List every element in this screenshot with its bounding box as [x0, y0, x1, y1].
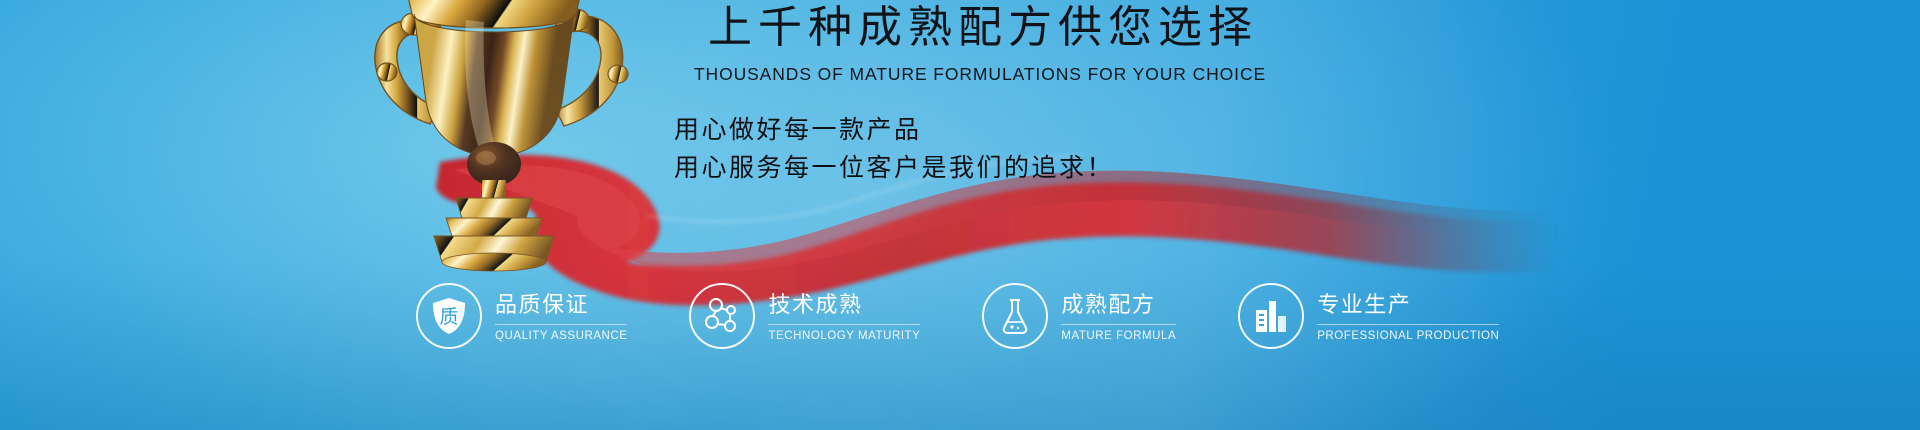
feature-quality-assurance[interactable]: 质 品质保证 QUALITY ASSURANCE	[416, 283, 627, 349]
banner-subtitle: THOUSANDS OF MATURE FORMULATIONS FOR YOU…	[660, 64, 1300, 85]
banner-copy: 上千种成熟配方供您选择 THOUSANDS OF MATURE FORMULAT…	[660, 4, 1300, 188]
feature-text: 品质保证 QUALITY ASSURANCE	[495, 290, 627, 341]
feature-title-en: TECHNOLOGY MATURITY	[768, 330, 920, 342]
factory-production-icon	[1238, 283, 1304, 349]
flask-formula-icon	[982, 283, 1048, 349]
feature-text: 成熟配方 MATURE FORMULA	[1061, 290, 1176, 341]
feature-title-en: MATURE FORMULA	[1061, 330, 1176, 342]
feature-text: 专业生产 PROFESSIONAL PRODUCTION	[1317, 290, 1499, 341]
feature-mature-formula[interactable]: 成熟配方 MATURE FORMULA	[982, 283, 1176, 349]
gold-trophy-icon	[330, 0, 660, 274]
feature-professional-production[interactable]: 专业生产 PROFESSIONAL PRODUCTION	[1238, 283, 1499, 349]
feature-title-cn: 成熟配方	[1061, 292, 1176, 324]
banner-headline: 上千种成熟配方供您选择	[660, 4, 1300, 52]
feature-badge-list: 质 品质保证 QUALITY ASSURANCE	[416, 283, 1499, 349]
feature-text: 技术成熟 TECHNOLOGY MATURITY	[768, 290, 920, 341]
feature-title-cn: 技术成熟	[768, 292, 920, 324]
feature-title-cn: 品质保证	[495, 292, 627, 324]
molecule-technology-icon	[689, 283, 755, 349]
feature-title-cn: 专业生产	[1317, 292, 1499, 324]
banner-taglines: 用心做好每一款产品 用心服务每一位客户是我们的追求！	[660, 111, 1300, 189]
feature-title-en: PROFESSIONAL PRODUCTION	[1317, 330, 1499, 342]
promo-banner: 上千种成熟配方供您选择 THOUSANDS OF MATURE FORMULAT…	[0, 0, 1920, 430]
feature-title-en: QUALITY ASSURANCE	[495, 330, 627, 342]
tagline-line-2: 用心服务每一位客户是我们的追求！	[674, 149, 1300, 188]
tagline-line-1: 用心做好每一款产品	[674, 111, 1300, 150]
shield-glyph: 质	[439, 306, 458, 328]
feature-technology-maturity[interactable]: 技术成熟 TECHNOLOGY MATURITY	[689, 283, 920, 349]
shield-quality-icon: 质	[416, 283, 482, 349]
